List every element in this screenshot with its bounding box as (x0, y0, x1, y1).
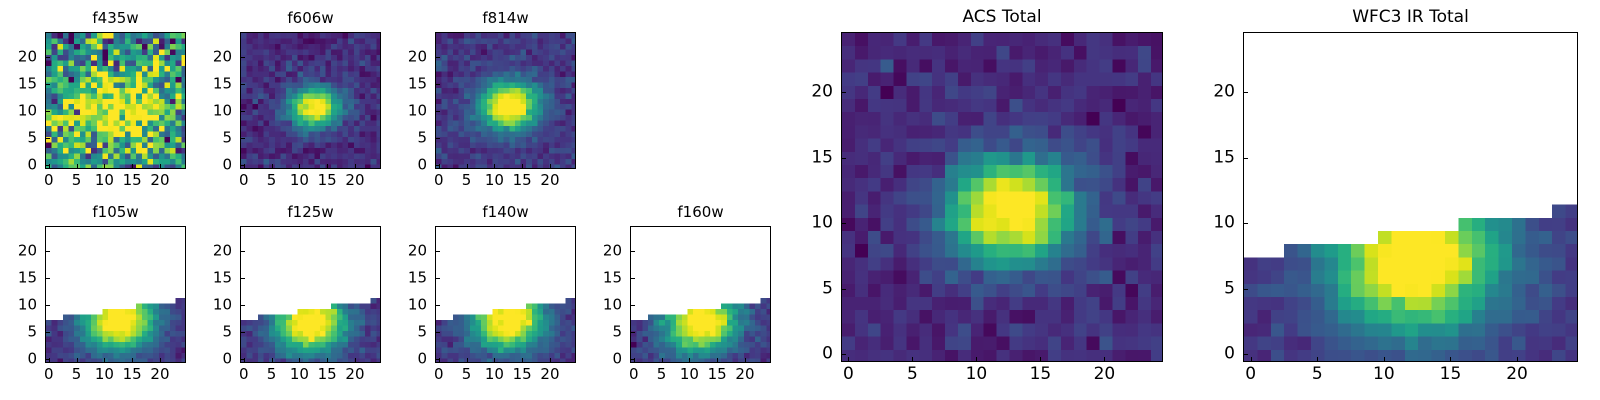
x-tick-label-f435w-4: 20 (150, 173, 169, 188)
y-tick-label-f435w-3: 15 (0, 77, 37, 92)
axes-f160w (630, 226, 771, 363)
panel-f435w: f435w0510152005101520 (45, 32, 186, 169)
y-tick-label-f606w-0: 0 (192, 158, 232, 173)
y-tick-f125w-1 (241, 332, 245, 333)
y-tick-f140w-0 (436, 359, 440, 360)
y-tick-label-f814w-3: 15 (387, 77, 427, 92)
x-tick-label-acs_total-3: 15 (1030, 366, 1052, 383)
x-tick-f160w-4 (745, 358, 746, 362)
x-tick-acs_total-4 (1104, 357, 1105, 361)
x-tick-f160w-1 (662, 358, 663, 362)
axes-wfc3_ir_total (1243, 32, 1578, 362)
panel-f105w: f105w0510152005101520 (45, 226, 186, 363)
axes-f140w (435, 226, 576, 363)
y-tick-wfc3_ir_total-4 (1244, 92, 1248, 93)
x-tick-f435w-1 (77, 164, 78, 168)
x-tick-label-f606w-2: 10 (290, 173, 309, 188)
y-tick-f814w-4 (436, 57, 440, 58)
x-tick-f140w-1 (467, 358, 468, 362)
x-tick-label-f140w-4: 20 (540, 367, 559, 382)
y-tick-f125w-3 (241, 278, 245, 279)
heatmap-image-f435w (46, 33, 186, 169)
x-tick-label-wfc3_ir_total-1: 5 (1312, 366, 1323, 383)
x-tick-f105w-3 (132, 358, 133, 362)
x-tick-label-f814w-2: 10 (485, 173, 504, 188)
y-tick-f606w-4 (241, 57, 245, 58)
y-tick-f435w-0 (46, 165, 50, 166)
y-tick-f140w-1 (436, 332, 440, 333)
y-tick-f160w-4 (631, 251, 635, 252)
y-tick-f105w-0 (46, 359, 50, 360)
y-tick-label-f160w-1: 5 (582, 325, 622, 340)
y-tick-label-f140w-0: 0 (387, 352, 427, 367)
y-tick-label-wfc3_ir_total-2: 10 (1195, 215, 1235, 232)
x-tick-label-f435w-3: 15 (123, 173, 142, 188)
y-tick-f435w-4 (46, 57, 50, 58)
y-tick-label-f435w-0: 0 (0, 158, 37, 173)
x-tick-f125w-3 (327, 358, 328, 362)
y-tick-label-f140w-2: 10 (387, 298, 427, 313)
y-tick-label-f606w-3: 15 (192, 77, 232, 92)
y-tick-label-f814w-4: 20 (387, 50, 427, 65)
y-tick-label-f160w-3: 15 (582, 271, 622, 286)
y-tick-f814w-2 (436, 111, 440, 112)
figure-canvas: f435w0510152005101520f606w05101520051015… (0, 0, 1600, 400)
y-tick-label-wfc3_ir_total-0: 0 (1195, 346, 1235, 363)
panel-title-f125w: f125w (240, 203, 381, 221)
y-tick-f814w-0 (436, 165, 440, 166)
y-tick-acs_total-0 (842, 354, 846, 355)
panel-title-f814w: f814w (435, 9, 576, 27)
y-tick-f160w-0 (631, 359, 635, 360)
x-tick-label-f160w-3: 15 (708, 367, 727, 382)
x-tick-f814w-2 (494, 164, 495, 168)
x-tick-f606w-4 (355, 164, 356, 168)
x-tick-label-f606w-4: 20 (345, 173, 364, 188)
y-tick-f160w-3 (631, 278, 635, 279)
x-tick-label-f125w-0: 0 (239, 367, 249, 382)
x-tick-label-f105w-2: 10 (95, 367, 114, 382)
y-tick-acs_total-2 (842, 223, 846, 224)
x-tick-acs_total-0 (848, 357, 849, 361)
y-tick-f125w-2 (241, 305, 245, 306)
x-tick-label-f814w-3: 15 (513, 173, 532, 188)
x-tick-label-f140w-2: 10 (485, 367, 504, 382)
x-tick-f125w-1 (272, 358, 273, 362)
x-tick-label-f814w-4: 20 (540, 173, 559, 188)
x-tick-f140w-3 (522, 358, 523, 362)
y-tick-label-f606w-1: 5 (192, 131, 232, 146)
x-tick-acs_total-2 (976, 357, 977, 361)
y-tick-label-f160w-0: 0 (582, 352, 622, 367)
panel-f606w: f606w0510152005101520 (240, 32, 381, 169)
y-tick-wfc3_ir_total-2 (1244, 223, 1248, 224)
x-tick-f606w-2 (299, 164, 300, 168)
y-tick-label-f125w-2: 10 (192, 298, 232, 313)
x-tick-label-wfc3_ir_total-3: 15 (1440, 366, 1462, 383)
x-tick-label-f606w-3: 15 (318, 173, 337, 188)
y-tick-f105w-4 (46, 251, 50, 252)
x-tick-f140w-2 (494, 358, 495, 362)
y-tick-label-f105w-3: 15 (0, 271, 37, 286)
x-tick-wfc3_ir_total-4 (1517, 357, 1518, 361)
y-tick-label-f125w-4: 20 (192, 244, 232, 259)
heatmap-image-f105w (46, 227, 186, 363)
y-tick-f606w-0 (241, 165, 245, 166)
x-tick-label-f125w-1: 5 (267, 367, 277, 382)
panel-f814w: f814w0510152005101520 (435, 32, 576, 169)
x-tick-label-f125w-4: 20 (345, 367, 364, 382)
y-tick-label-f140w-4: 20 (387, 244, 427, 259)
panel-title-wfc3_ir_total: WFC3 IR Total (1243, 7, 1578, 27)
x-tick-label-acs_total-2: 10 (966, 366, 988, 383)
panel-f160w: f160w0510152005101520 (630, 226, 771, 363)
x-tick-label-f125w-2: 10 (290, 367, 309, 382)
x-tick-label-f105w-0: 0 (44, 367, 54, 382)
y-tick-label-f105w-2: 10 (0, 298, 37, 313)
x-tick-label-f435w-0: 0 (44, 173, 54, 188)
y-tick-label-f814w-2: 10 (387, 104, 427, 119)
y-tick-label-acs_total-3: 15 (793, 149, 833, 166)
y-tick-f606w-3 (241, 84, 245, 85)
x-tick-label-f435w-2: 10 (95, 173, 114, 188)
panel-title-f140w: f140w (435, 203, 576, 221)
y-tick-label-f105w-0: 0 (0, 352, 37, 367)
x-tick-label-acs_total-4: 20 (1094, 366, 1116, 383)
y-tick-acs_total-3 (842, 158, 846, 159)
x-tick-label-wfc3_ir_total-2: 10 (1373, 366, 1395, 383)
x-tick-label-f105w-1: 5 (72, 367, 82, 382)
heatmap-image-acs_total (842, 33, 1163, 362)
x-tick-label-f814w-0: 0 (434, 173, 444, 188)
y-tick-label-f125w-1: 5 (192, 325, 232, 340)
x-tick-f125w-2 (299, 358, 300, 362)
y-tick-f435w-1 (46, 138, 50, 139)
x-tick-label-f140w-0: 0 (434, 367, 444, 382)
x-tick-wfc3_ir_total-2 (1384, 357, 1385, 361)
y-tick-f814w-3 (436, 84, 440, 85)
y-tick-label-acs_total-0: 0 (793, 346, 833, 363)
y-tick-f160w-2 (631, 305, 635, 306)
axes-acs_total (841, 32, 1163, 362)
x-tick-f105w-1 (77, 358, 78, 362)
y-tick-label-f125w-0: 0 (192, 352, 232, 367)
y-tick-f125w-0 (241, 359, 245, 360)
y-tick-label-acs_total-4: 20 (793, 84, 833, 101)
y-tick-label-f160w-2: 10 (582, 298, 622, 313)
x-tick-f814w-1 (467, 164, 468, 168)
panel-title-f160w: f160w (630, 203, 771, 221)
y-tick-f606w-2 (241, 111, 245, 112)
x-tick-f160w-2 (689, 358, 690, 362)
y-tick-f105w-1 (46, 332, 50, 333)
y-tick-wfc3_ir_total-3 (1244, 158, 1248, 159)
panel-acs_total: ACS Total0510152005101520 (841, 32, 1163, 362)
y-tick-f140w-3 (436, 278, 440, 279)
y-tick-acs_total-4 (842, 92, 846, 93)
y-tick-label-wfc3_ir_total-4: 20 (1195, 84, 1235, 101)
x-tick-label-f105w-4: 20 (150, 367, 169, 382)
axes-f814w (435, 32, 576, 169)
heatmap-image-f606w (241, 33, 381, 169)
y-tick-label-wfc3_ir_total-1: 5 (1195, 280, 1235, 297)
y-tick-label-f105w-4: 20 (0, 244, 37, 259)
y-tick-label-f606w-4: 20 (192, 50, 232, 65)
x-tick-f125w-4 (355, 358, 356, 362)
y-tick-f606w-1 (241, 138, 245, 139)
axes-f105w (45, 226, 186, 363)
x-tick-label-f140w-1: 5 (462, 367, 472, 382)
y-tick-acs_total-1 (842, 289, 846, 290)
x-tick-f606w-3 (327, 164, 328, 168)
y-tick-f105w-2 (46, 305, 50, 306)
y-tick-f140w-4 (436, 251, 440, 252)
y-tick-label-f125w-3: 15 (192, 271, 232, 286)
axes-f606w (240, 32, 381, 169)
y-tick-f140w-2 (436, 305, 440, 306)
x-tick-f140w-4 (550, 358, 551, 362)
y-tick-label-acs_total-1: 5 (793, 280, 833, 297)
x-tick-label-wfc3_ir_total-0: 0 (1245, 366, 1256, 383)
y-tick-label-f814w-1: 5 (387, 131, 427, 146)
panel-wfc3_ir_total: WFC3 IR Total0510152005101520 (1243, 32, 1578, 362)
y-tick-f105w-3 (46, 278, 50, 279)
x-tick-acs_total-3 (1040, 357, 1041, 361)
x-tick-label-f606w-0: 0 (239, 173, 249, 188)
y-tick-label-wfc3_ir_total-3: 15 (1195, 149, 1235, 166)
y-tick-wfc3_ir_total-1 (1244, 289, 1248, 290)
x-tick-label-acs_total-1: 5 (907, 366, 918, 383)
y-tick-label-f814w-0: 0 (387, 158, 427, 173)
x-tick-label-f435w-1: 5 (72, 173, 82, 188)
heatmap-image-f160w (631, 227, 771, 363)
x-tick-f814w-4 (550, 164, 551, 168)
x-tick-f435w-3 (132, 164, 133, 168)
x-tick-label-f606w-1: 5 (267, 173, 277, 188)
x-tick-label-wfc3_ir_total-4: 20 (1506, 366, 1528, 383)
x-tick-f606w-1 (272, 164, 273, 168)
x-tick-label-f140w-3: 15 (513, 367, 532, 382)
y-tick-f160w-1 (631, 332, 635, 333)
y-tick-label-f606w-2: 10 (192, 104, 232, 119)
heatmap-image-f125w (241, 227, 381, 363)
x-tick-f435w-4 (160, 164, 161, 168)
panel-f125w: f125w0510152005101520 (240, 226, 381, 363)
x-tick-label-f125w-3: 15 (318, 367, 337, 382)
x-tick-label-f814w-1: 5 (462, 173, 472, 188)
x-tick-label-f160w-0: 0 (629, 367, 639, 382)
x-tick-acs_total-1 (912, 357, 913, 361)
x-tick-label-f105w-3: 15 (123, 367, 142, 382)
y-tick-f435w-3 (46, 84, 50, 85)
y-tick-label-f435w-4: 20 (0, 50, 37, 65)
heatmap-image-f814w (436, 33, 576, 169)
x-tick-f160w-3 (717, 358, 718, 362)
panel-f140w: f140w0510152005101520 (435, 226, 576, 363)
heatmap-image-wfc3_ir_total (1244, 33, 1578, 362)
panel-title-acs_total: ACS Total (841, 7, 1163, 27)
heatmap-image-f140w (436, 227, 576, 363)
x-tick-wfc3_ir_total-0 (1251, 357, 1252, 361)
x-tick-wfc3_ir_total-3 (1450, 357, 1451, 361)
x-tick-f105w-4 (160, 358, 161, 362)
axes-f435w (45, 32, 186, 169)
panel-title-f105w: f105w (45, 203, 186, 221)
y-tick-f435w-2 (46, 111, 50, 112)
axes-f125w (240, 226, 381, 363)
x-tick-label-acs_total-0: 0 (843, 366, 854, 383)
x-tick-label-f160w-2: 10 (680, 367, 699, 382)
y-tick-label-f160w-4: 20 (582, 244, 622, 259)
y-tick-label-f435w-2: 10 (0, 104, 37, 119)
y-tick-f814w-1 (436, 138, 440, 139)
y-tick-wfc3_ir_total-0 (1244, 354, 1248, 355)
panel-title-f435w: f435w (45, 9, 186, 27)
x-tick-f105w-2 (104, 358, 105, 362)
y-tick-label-f140w-3: 15 (387, 271, 427, 286)
x-tick-f814w-3 (522, 164, 523, 168)
panel-title-f606w: f606w (240, 9, 381, 27)
x-tick-label-f160w-1: 5 (657, 367, 667, 382)
y-tick-f125w-4 (241, 251, 245, 252)
y-tick-label-f105w-1: 5 (0, 325, 37, 340)
y-tick-label-acs_total-2: 10 (793, 215, 833, 232)
x-tick-wfc3_ir_total-1 (1317, 357, 1318, 361)
x-tick-f435w-2 (104, 164, 105, 168)
y-tick-label-f140w-1: 5 (387, 325, 427, 340)
x-tick-label-f160w-4: 20 (735, 367, 754, 382)
y-tick-label-f435w-1: 5 (0, 131, 37, 146)
